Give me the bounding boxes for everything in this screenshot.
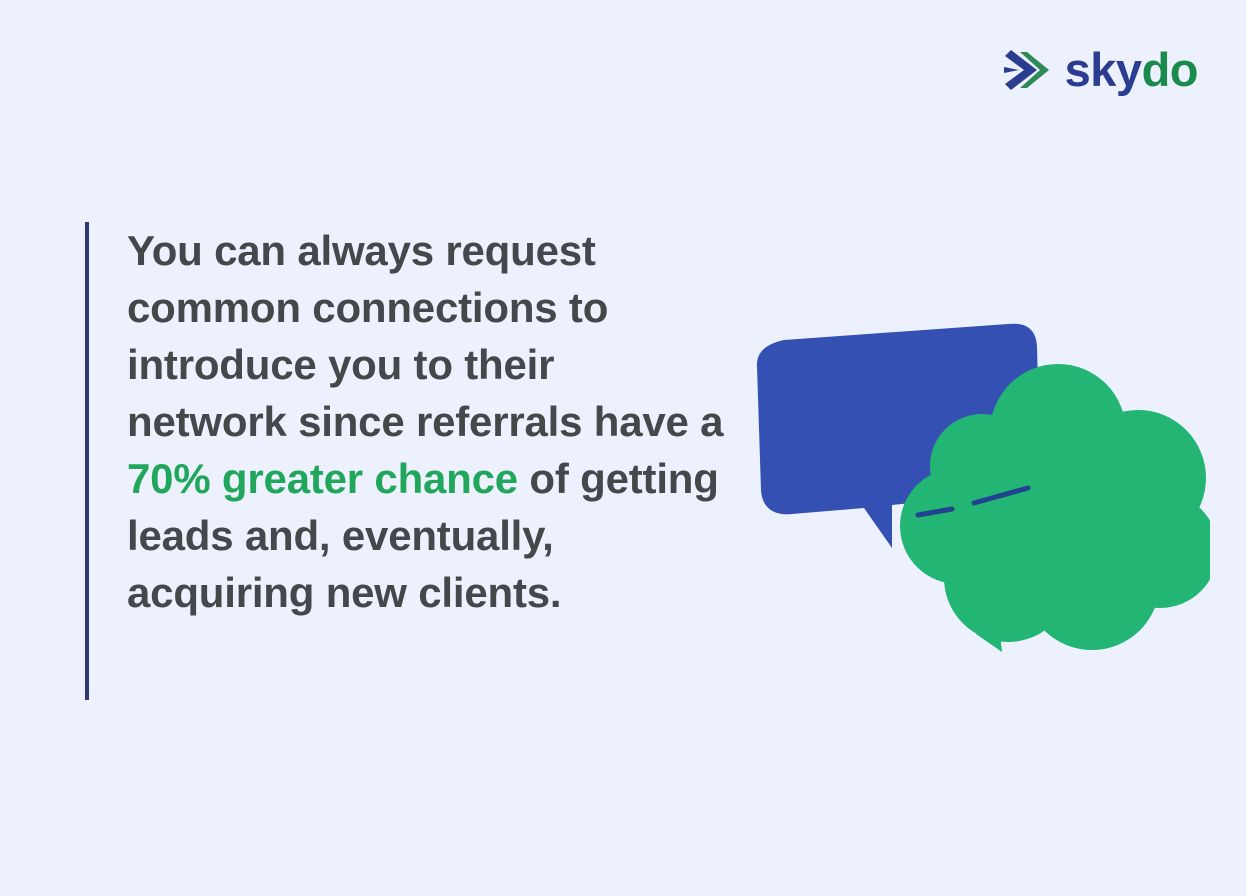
- quote-highlight: 70% greater chance: [127, 455, 518, 502]
- wordmark-sky: sky: [1065, 43, 1142, 96]
- skydo-wordmark: skydo: [1065, 46, 1198, 93]
- skydo-chevron-logo-icon: [1003, 47, 1055, 93]
- quote-block: You can always request common connection…: [85, 222, 725, 700]
- speech-bubbles-illustration: [740, 320, 1210, 670]
- wordmark-do: do: [1142, 43, 1198, 96]
- quote-segment-1: You can always request common connection…: [127, 227, 723, 445]
- skydo-logo: skydo: [1003, 46, 1198, 93]
- quote-text: You can always request common connection…: [89, 222, 725, 700]
